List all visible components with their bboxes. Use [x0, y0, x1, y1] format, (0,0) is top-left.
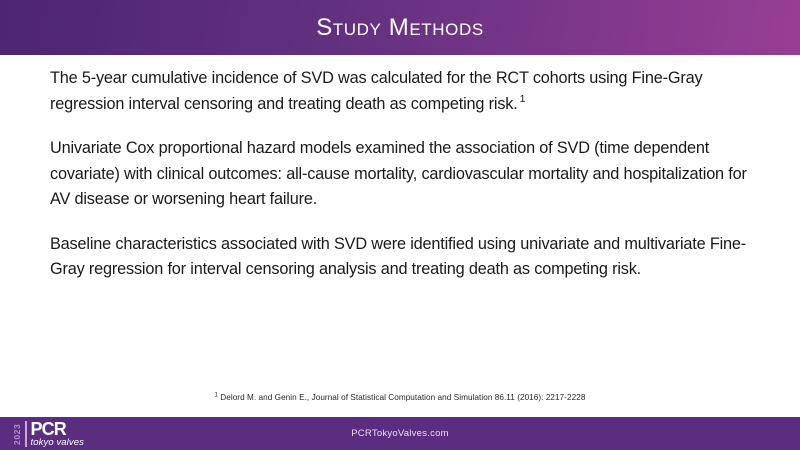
page-title: Study Methods: [0, 0, 800, 55]
footer-website-link[interactable]: PCRTokyoValves.com: [0, 417, 800, 450]
paragraph-1: The 5-year cumulative incidence of SVD w…: [50, 66, 762, 117]
citation-text: Delord M. and Genin E., Journal of Stati…: [220, 393, 585, 402]
footnote-marker-1: 1: [518, 93, 526, 105]
paragraph-2-text: Univariate Cox proportional hazard model…: [50, 139, 747, 208]
slide: Study Methods The 5-year cumulative inci…: [0, 0, 800, 450]
logo-subtitle-text: tokyo valves: [31, 437, 84, 448]
citation-footnote: 1 Delord M. and Genin E., Journal of Sta…: [0, 392, 800, 404]
logo-divider: [25, 421, 27, 447]
pcr-tokyo-valves-logo: 2023 PCR tokyo valves: [13, 420, 84, 448]
paragraph-1-text: The 5-year cumulative incidence of SVD w…: [50, 69, 702, 113]
citation-marker: 1: [215, 392, 218, 398]
body-content: The 5-year cumulative incidence of SVD w…: [50, 66, 762, 283]
paragraph-3-text: Baseline characteristics associated with…: [50, 235, 746, 279]
logo-year-text: 2023: [13, 421, 22, 447]
logo-brand-text: PCR: [31, 421, 84, 437]
paragraph-2: Univariate Cox proportional hazard model…: [50, 136, 762, 213]
logo-wordmark: PCR tokyo valves: [31, 421, 84, 448]
paragraph-3: Baseline characteristics associated with…: [50, 232, 762, 283]
